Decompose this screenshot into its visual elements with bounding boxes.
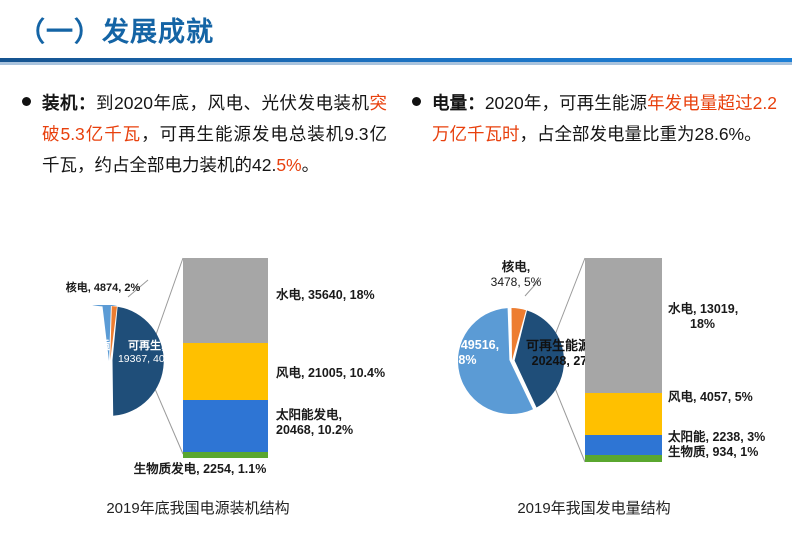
bar-label-wind-text: 风电, 21005, 10.4%: [276, 366, 385, 380]
bullet-lead-label: 装机：: [42, 93, 96, 113]
bar-segment-hydro: [183, 258, 268, 343]
bullet-part: 2020年，可再生能源: [485, 93, 647, 113]
stacked-bar-generation: [585, 258, 662, 480]
chart-capacity: 核电, 4874, 2% 火电（不含生物质 116801, 58.1% 可再生,…: [0, 240, 396, 540]
bar-label-solar-text: 太阳能发电,: [276, 408, 342, 422]
bullet-part: 到2020年底，风电、光伏发电装机: [96, 93, 369, 113]
pie-label-renewable-name: 可再生,: [128, 340, 164, 352]
bullet-text: 装机：到2020年底，风电、光伏发电装机突破5.3亿千瓦，可再生能源发电总装机9…: [42, 88, 387, 181]
bullet-dot-icon: [412, 97, 421, 106]
pie-label-thermal-name: 火电（不含生物质: [22, 340, 110, 352]
bar-label-wind-text: 风电, 4057, 5%: [668, 390, 753, 404]
bar-segment-biomass: [183, 452, 268, 458]
bar-segment-solar: [585, 435, 662, 455]
bar-segment-wind: [183, 343, 268, 400]
bar-label-wind: 风电, 21005, 10.4%: [276, 366, 392, 381]
bullet-lead-label: 电量：: [432, 93, 485, 113]
bar-label-solar: 太阳能, 2238, 3%: [668, 430, 780, 445]
pie-label-thermal-value: 68%: [451, 353, 476, 367]
pie-label-renewable: 可再生, 19367, 40%: [100, 340, 192, 366]
bar-label-biomass-text: 生物质发电, 2254, 1.1%: [134, 462, 267, 476]
bar-label-biomass: 生物质发电, 2254, 1.1%: [110, 462, 290, 477]
chart-generation: 核电, 3478, 5% 火电, 49516, 68% 可再生能源， 20248…: [396, 240, 792, 540]
bar-label-hydro: 水电, 35640, 18%: [276, 288, 392, 303]
header-rule-secondary: [0, 62, 792, 65]
bullet-installed-capacity: 装机：到2020年底，风电、光伏发电装机突破5.3亿千瓦，可再生能源发电总装机9…: [22, 88, 387, 181]
bar-label-hydro-text: 水电, 13019,: [668, 302, 738, 316]
bullet-part: 。: [302, 155, 320, 175]
pie-label-thermal: 火电, 49516, 68%: [418, 338, 510, 368]
bar-label-hydro-value: 18%: [690, 317, 715, 332]
bar-label-solar-text: 太阳能, 2238, 3%: [668, 430, 765, 444]
bar-label-hydro: 水电, 13019, 18%: [668, 302, 780, 332]
bar-label-biomass-text: 生物质, 934, 1%: [668, 445, 758, 459]
bullet-generation-volume: 电量：2020年，可再生能源年发电量超过2.2万亿千瓦时，占全部发电量比重为28…: [412, 88, 777, 150]
slide-root: （一）发展成就 装机：到2020年底，风电、光伏发电装机突破5.3亿千瓦，可再生…: [0, 0, 792, 548]
bullet-part: ，占全部发电量比重为28.6%。: [520, 124, 762, 144]
bar-segment-hydro: [585, 258, 662, 393]
pie-label-nuclear-text: 核电, 4874, 2%: [66, 282, 141, 294]
bar-label-wind: 风电, 4057, 5%: [668, 390, 780, 405]
bullet-part-highlight: 5%: [276, 155, 301, 175]
bullet-dot-icon: [22, 97, 31, 106]
stacked-bar-capacity: [183, 258, 268, 478]
pie-label-nuclear-name: 核电,: [502, 260, 530, 274]
chart-caption-generation: 2019年我国发电量结构: [396, 497, 792, 518]
bar-segment-solar: [183, 400, 268, 452]
bar-label-solar-value: 20468, 10.2%: [276, 423, 353, 437]
pie-label-nuclear: 核电, 3478, 5%: [464, 260, 568, 290]
pie-label-thermal-name: 火电, 49516,: [429, 338, 499, 352]
bar-label-biomass: 生物质, 934, 1%: [668, 445, 780, 460]
pie-label-thermal-value: 116801, 58.1%: [31, 353, 101, 365]
bar-segment-wind: [585, 393, 662, 435]
pie-label-renewable-value: 19367, 40%: [118, 353, 174, 365]
pie-label-nuclear: 核电, 4874, 2%: [38, 282, 168, 295]
bar-label-hydro-text: 水电, 35640, 18%: [276, 288, 375, 302]
bar-segment-biomass: [585, 455, 662, 462]
pie-label-nuclear-value: 3478, 5%: [491, 275, 542, 289]
bar-label-solar: 太阳能发电, 20468, 10.2%: [276, 408, 392, 438]
page-title: （一）发展成就: [18, 10, 214, 49]
bullet-text: 电量：2020年，可再生能源年发电量超过2.2万亿千瓦时，占全部发电量比重为28…: [432, 88, 777, 150]
chart-caption-capacity: 2019年底我国电源装机结构: [0, 497, 396, 518]
